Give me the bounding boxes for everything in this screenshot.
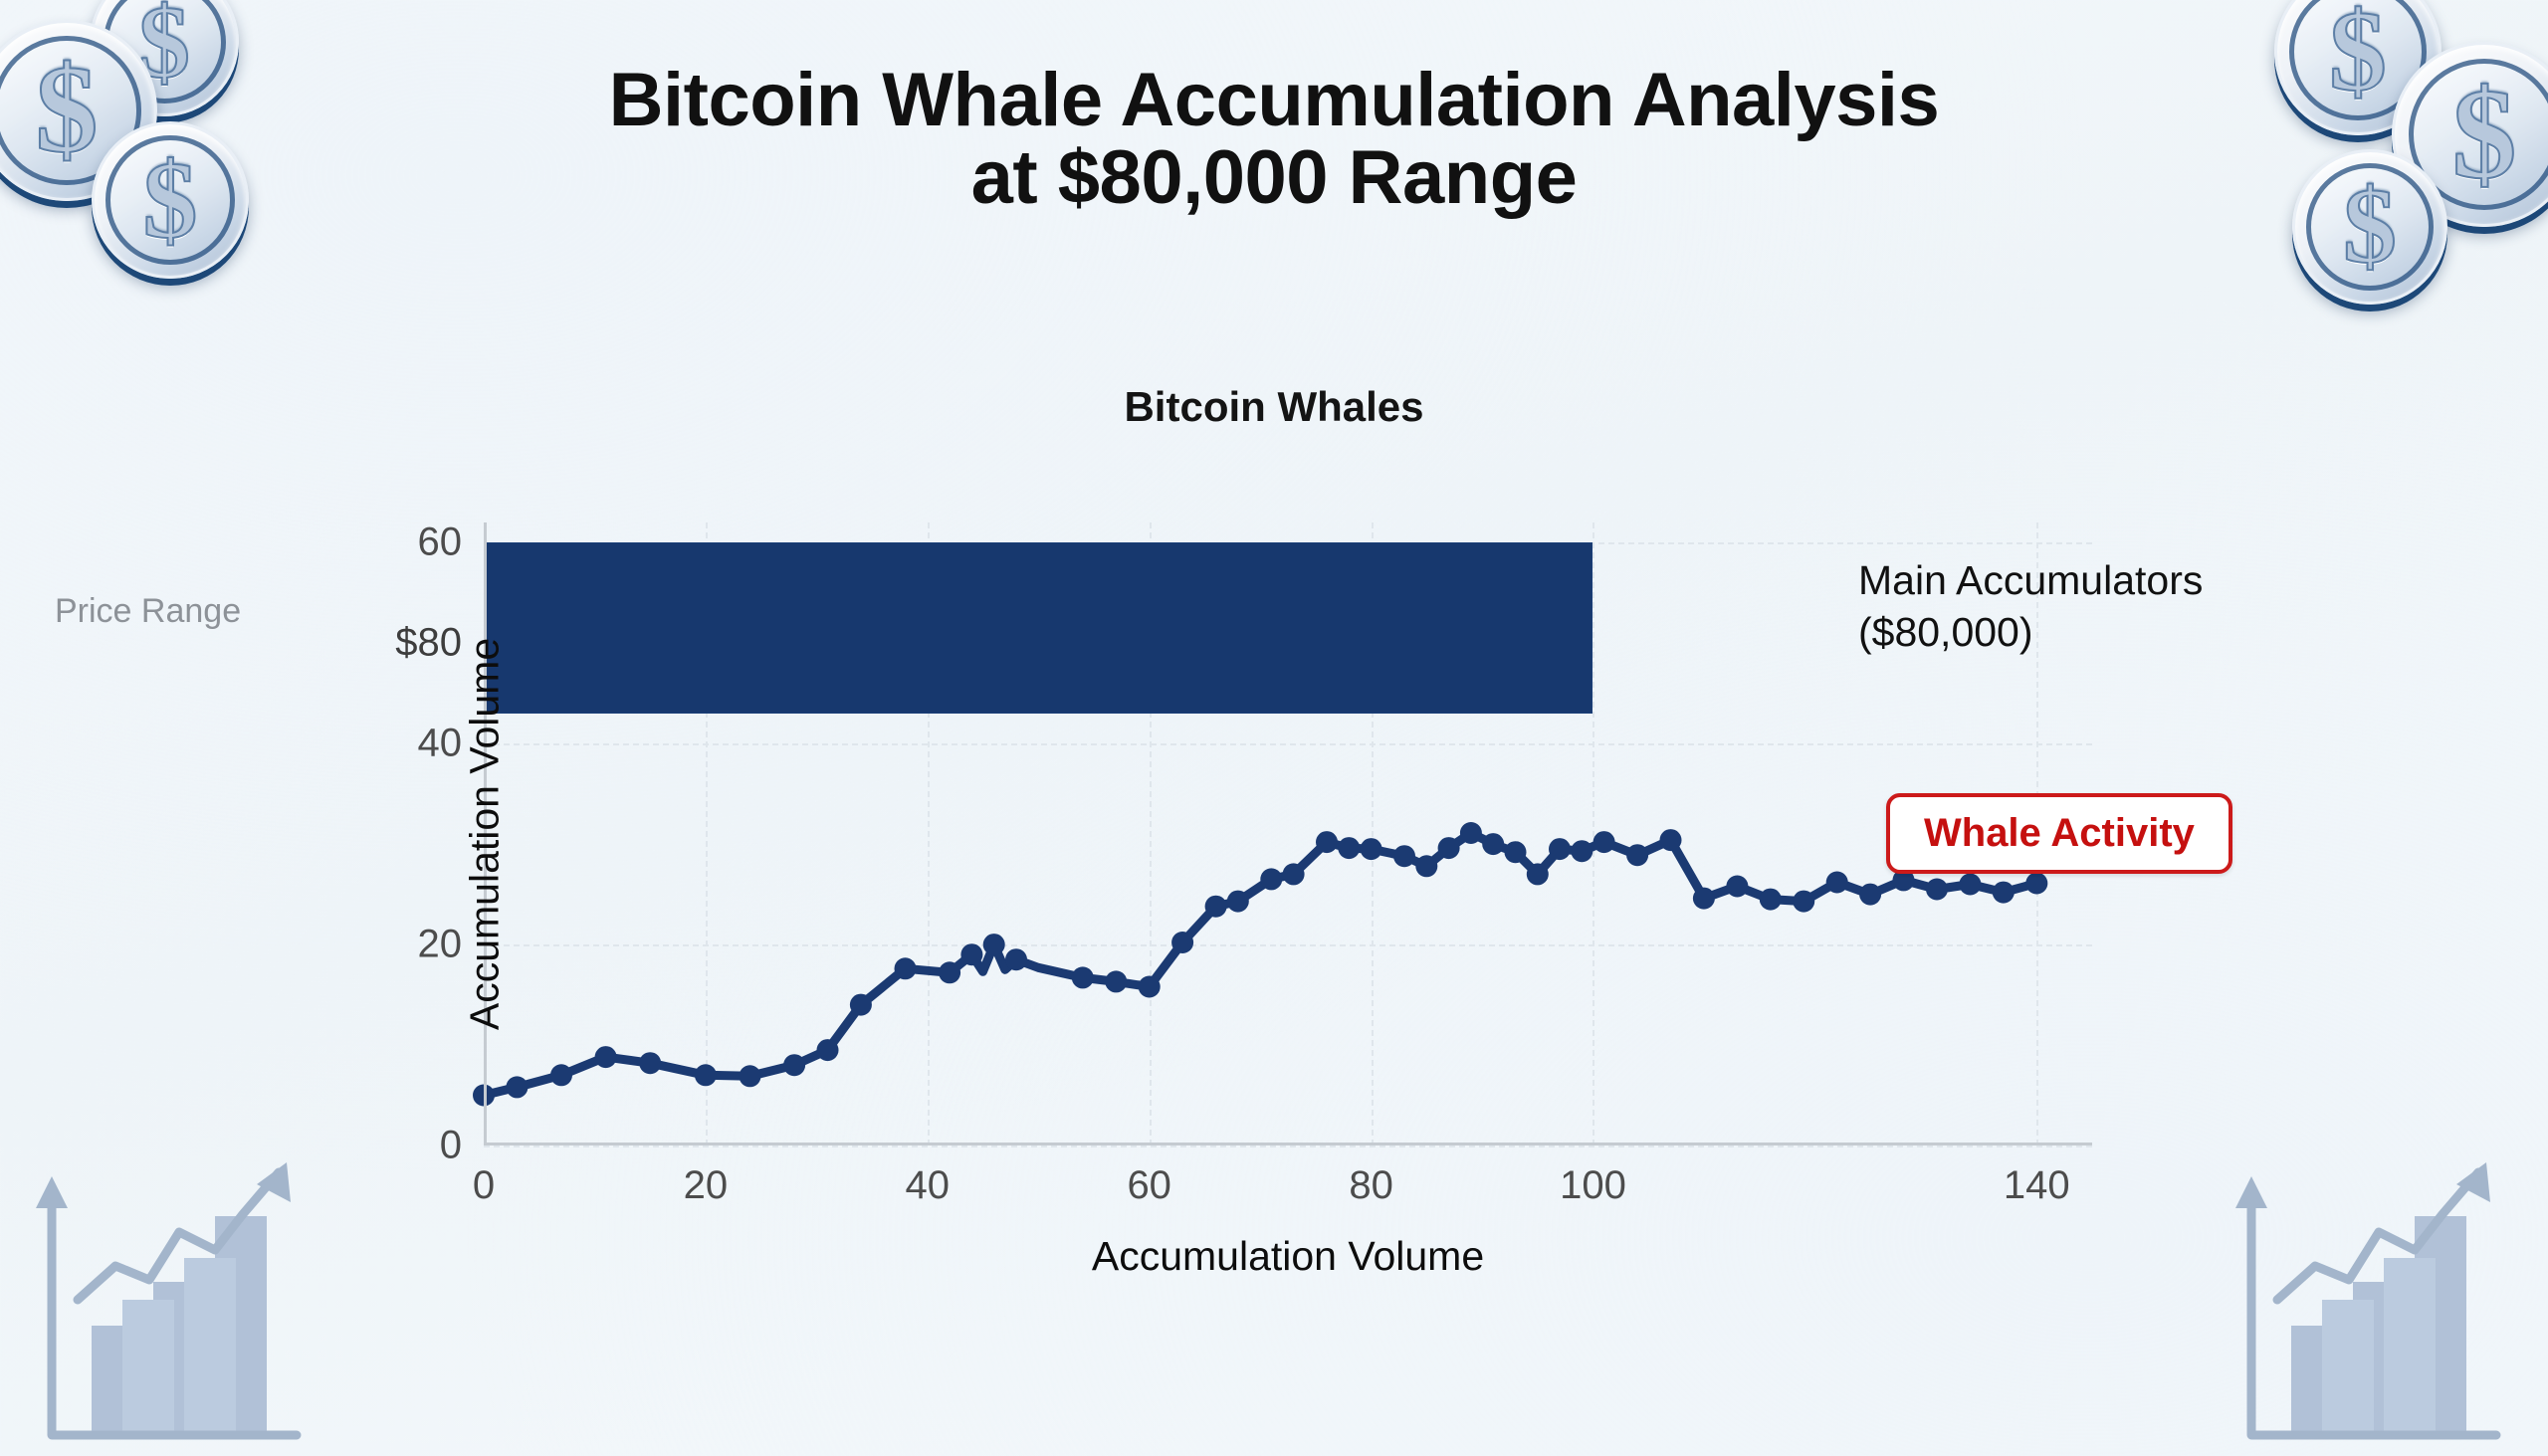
x-axis-title: Accumulation Volume	[484, 1233, 2092, 1280]
data-point-marker	[1726, 876, 1748, 898]
line-series-layer	[484, 522, 2092, 1145]
data-point-marker	[506, 1076, 528, 1098]
growth-bar-chart-icon-right	[2229, 1154, 2518, 1443]
data-point-marker	[1571, 840, 1592, 862]
y-tick-label: 20	[418, 923, 463, 967]
data-point-marker	[1549, 838, 1571, 860]
y-tick-label: 60	[418, 520, 463, 565]
x-tick-label: 100	[1560, 1163, 1626, 1208]
y-tick-label: 40	[418, 722, 463, 766]
line-series-path	[484, 833, 2036, 1096]
data-point-marker	[783, 1054, 805, 1076]
data-point-marker	[1415, 855, 1437, 877]
data-point-marker	[1283, 863, 1305, 885]
data-point-marker	[983, 934, 1005, 955]
data-point-marker	[1993, 882, 2015, 904]
price-range-caption: Price Range	[55, 592, 241, 631]
data-point-marker	[2025, 873, 2047, 895]
data-point-marker	[960, 943, 982, 965]
x-tick-label: 80	[1349, 1163, 1393, 1208]
data-point-marker	[1338, 837, 1360, 859]
chart-subtitle: Bitcoin Whales	[0, 383, 2548, 431]
x-tick-label: 40	[906, 1163, 951, 1208]
y-tick-label-price: $80	[395, 621, 462, 666]
data-point-marker	[1005, 948, 1027, 970]
data-point-marker	[1316, 831, 1338, 853]
data-point-marker	[850, 994, 872, 1016]
page-title-line-2: at $80,000 Range	[0, 139, 2548, 217]
data-point-marker	[550, 1064, 572, 1086]
data-point-marker	[595, 1046, 617, 1068]
data-point-marker	[1527, 863, 1549, 885]
data-point-marker	[1105, 970, 1127, 992]
data-point-marker	[1227, 891, 1249, 913]
x-tick-label: 0	[473, 1163, 495, 1208]
data-point-marker	[1826, 872, 1848, 894]
x-tick-label: 140	[2004, 1163, 2070, 1208]
gridline-horizontal	[484, 1145, 2092, 1147]
data-point-marker	[1626, 844, 1648, 866]
data-point-marker	[1072, 966, 1094, 988]
data-point-marker	[1760, 889, 1782, 911]
data-point-marker	[1438, 837, 1460, 859]
data-point-marker	[1460, 822, 1482, 844]
page-title-line-1: Bitcoin Whale Accumulation Analysis	[0, 62, 2548, 139]
data-point-marker	[1393, 845, 1415, 867]
data-point-marker	[1693, 888, 1715, 910]
data-point-marker	[1660, 829, 1682, 851]
data-point-marker	[1361, 838, 1382, 860]
y-tick-label: 0	[440, 1124, 462, 1168]
data-point-marker	[639, 1052, 661, 1074]
data-point-marker	[939, 961, 960, 983]
whale-activity-callout[interactable]: Whale Activity	[1886, 793, 2232, 874]
data-point-marker	[1171, 932, 1193, 953]
data-point-marker	[1205, 896, 1227, 918]
data-point-marker	[740, 1065, 761, 1087]
x-axis-line	[484, 1143, 2092, 1145]
data-point-marker	[1793, 891, 1814, 913]
data-point-marker	[1593, 831, 1615, 853]
data-point-marker	[1139, 976, 1161, 998]
data-point-marker	[1505, 841, 1527, 863]
x-tick-label: 20	[684, 1163, 729, 1208]
data-point-marker	[817, 1039, 839, 1061]
data-point-marker	[895, 957, 917, 979]
data-point-marker	[695, 1064, 717, 1086]
page-title: Bitcoin Whale Accumulation Analysis at $…	[0, 62, 2548, 218]
main-accumulators-annotation: Main Accumulators ($80,000)	[1858, 554, 2203, 659]
whale-activity-chart: 0204060$80 020406080100140 Accumulation …	[484, 522, 2092, 1145]
data-point-marker	[1926, 879, 1948, 901]
data-point-marker	[1859, 884, 1881, 906]
data-point-marker	[1260, 868, 1282, 890]
growth-bar-chart-icon-left	[30, 1154, 318, 1443]
x-tick-label: 60	[1127, 1163, 1171, 1208]
data-point-marker	[1482, 833, 1504, 855]
y-axis-title: Accumulation Volume	[462, 638, 509, 1030]
data-point-marker	[1959, 874, 1981, 896]
